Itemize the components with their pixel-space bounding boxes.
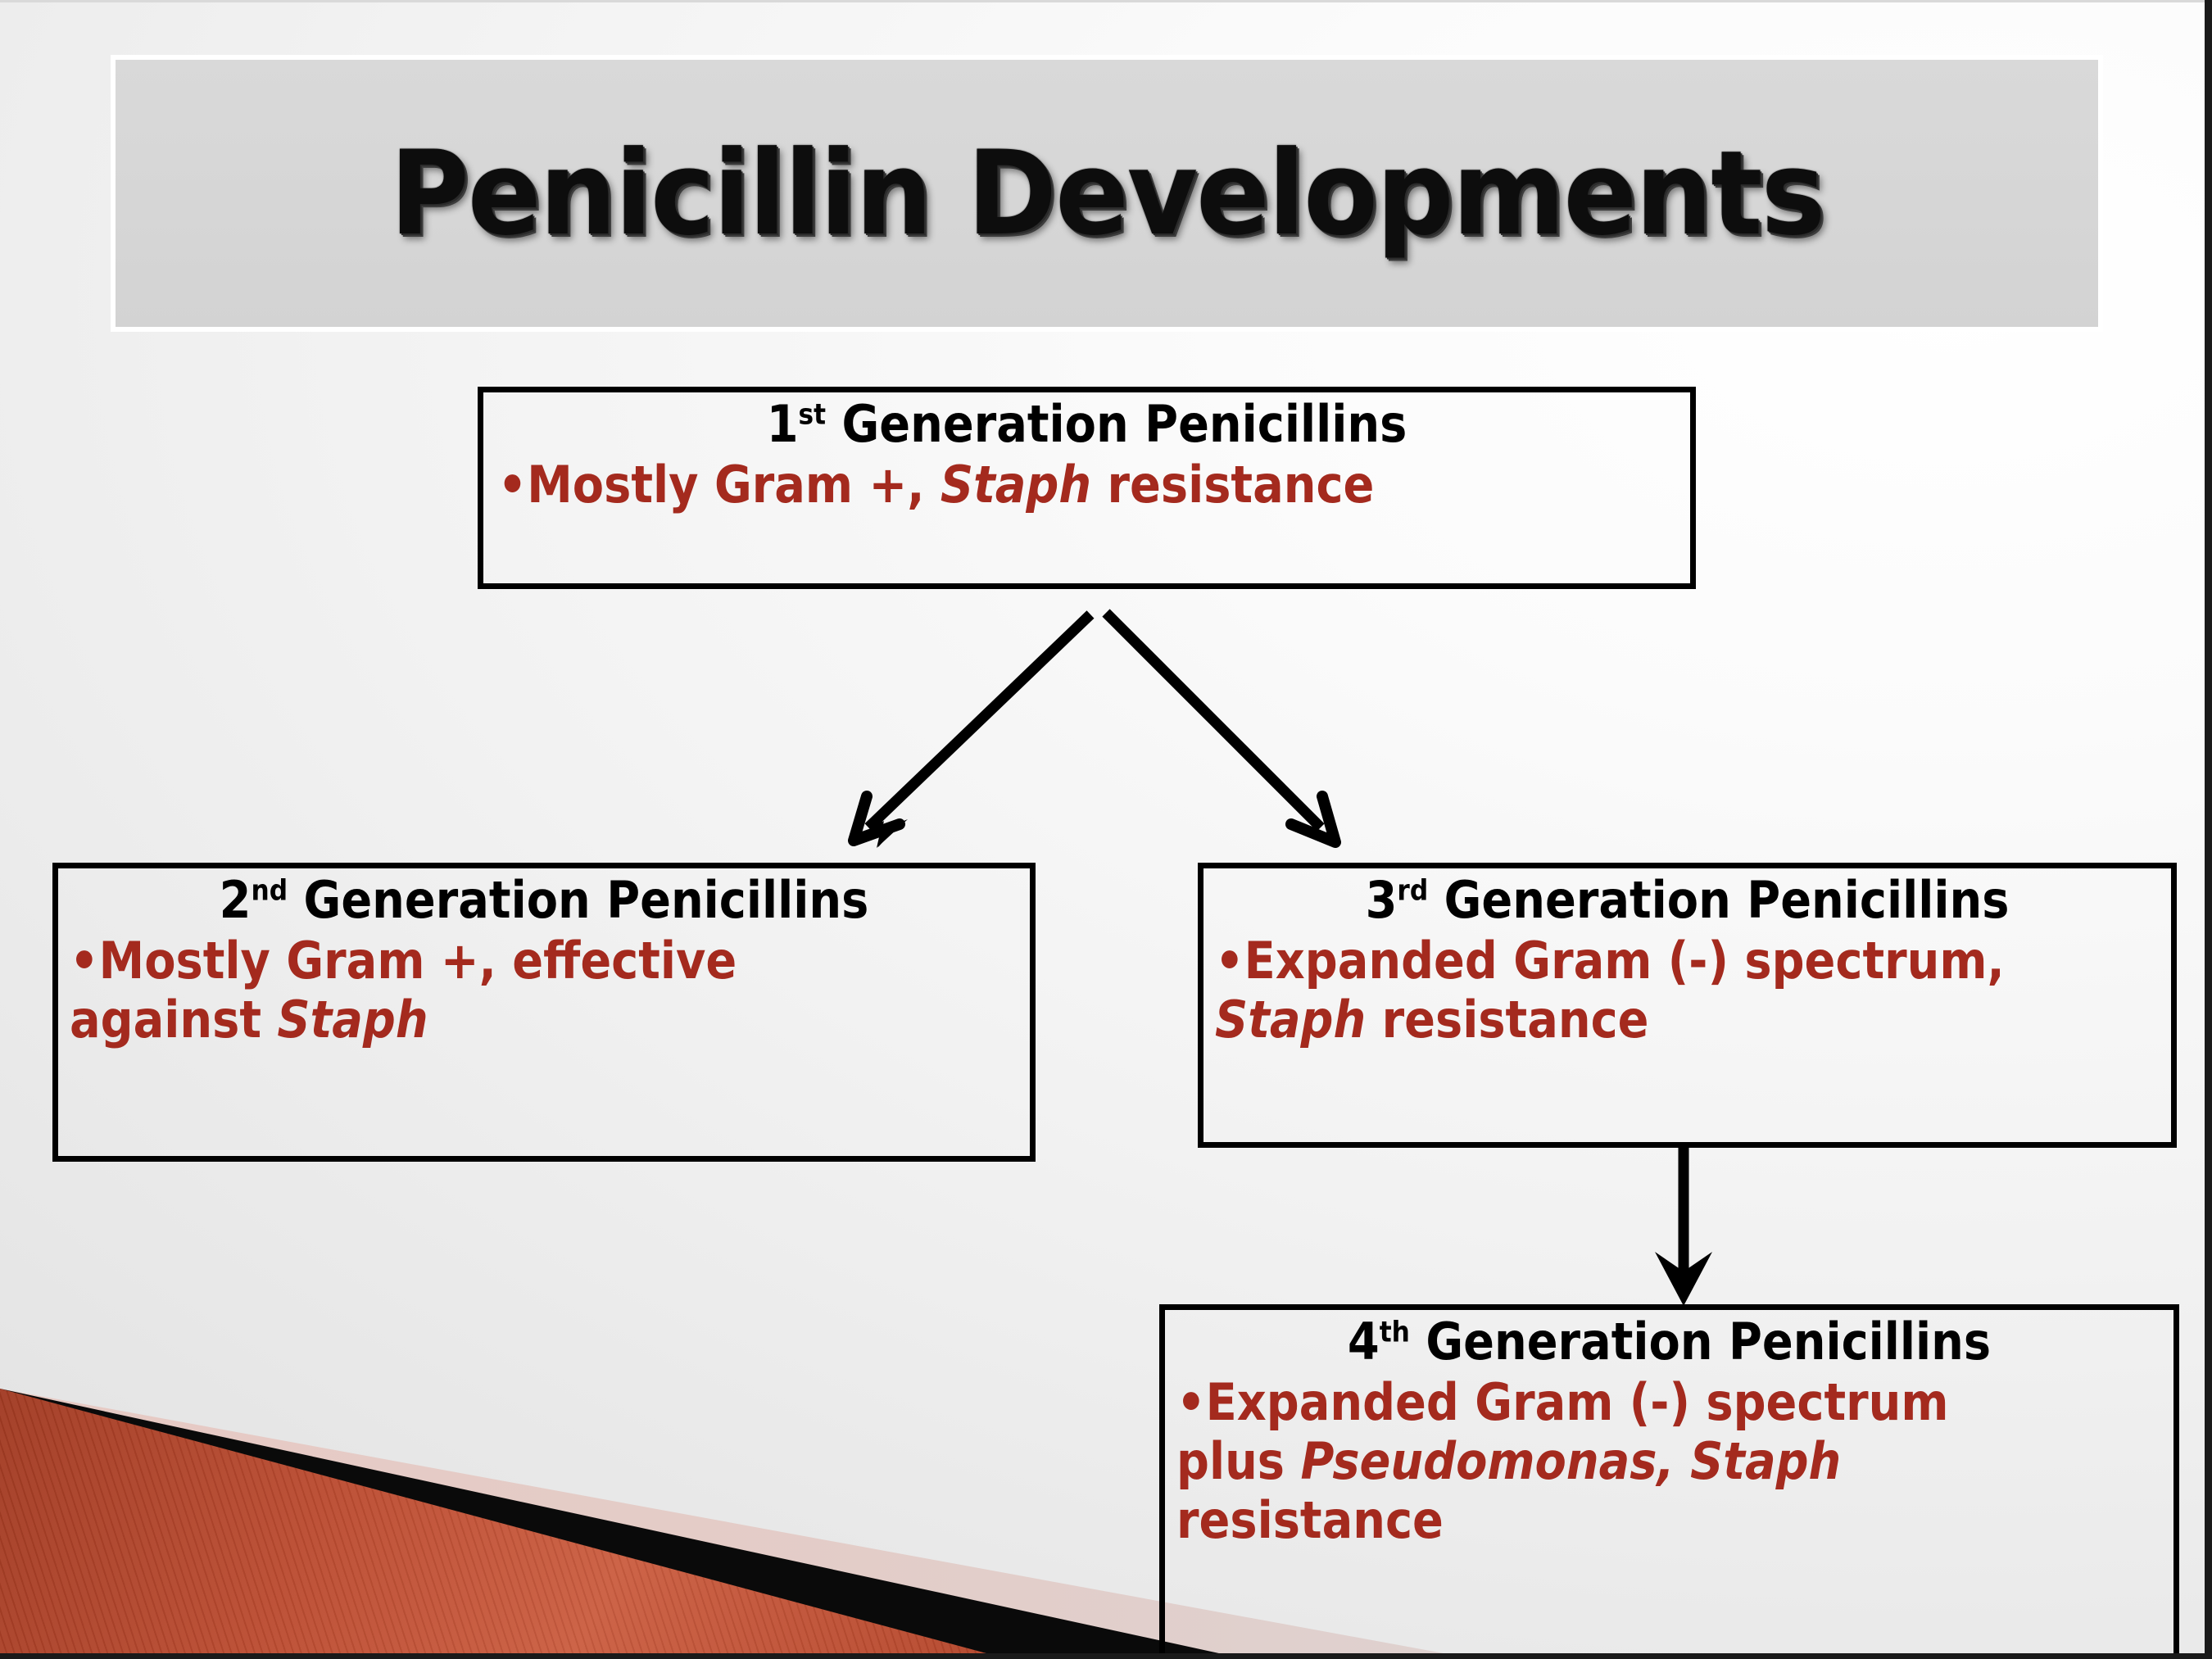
generation-4-heading: 4th Generation Penicillins [1226, 1315, 2113, 1370]
bullet-part-2: resistance [1176, 1490, 1444, 1550]
arrow-gen3-to-gen4 [1655, 1145, 1712, 1306]
generation-1-heading-rest: Generation Penicillins [826, 394, 1407, 454]
generation-1-heading: 1st Generation Penicillins [554, 397, 1620, 452]
generation-3-heading: 3rd Generation Penicillins [1262, 873, 2113, 928]
bullet-marker: • [1215, 931, 1244, 990]
generation-2-heading: 2nd Generation Penicillins [117, 873, 971, 928]
decor-orange-wedge [0, 1389, 1008, 1659]
bullet-part-1: Staph [1215, 990, 1366, 1049]
generation-1-ordinal: 1 [767, 394, 799, 454]
generation-3-heading-rest: Generation Penicillins [1428, 870, 2009, 930]
title-plaque: Penicillin Developments [111, 55, 2103, 332]
generation-4-bullet: •Expanded Gram (-) spectrum plus Pseudom… [1176, 1373, 2064, 1550]
bullet-marker: • [70, 931, 99, 990]
arrow-gen1-to-gen3 [1106, 613, 1335, 842]
bullet-marker: • [1176, 1372, 1206, 1432]
bullet-part-0: Expanded Gram (-) spectrum, [1244, 931, 2005, 990]
bullet-part-1: Staph [277, 990, 428, 1049]
generation-box-4[interactable]: 4th Generation Penicillins •Expanded Gra… [1159, 1304, 2179, 1659]
generation-box-1[interactable]: 1st Generation Penicillins •Mostly Gram … [478, 387, 1696, 589]
generation-2-heading-rest: Generation Penicillins [288, 870, 868, 930]
generation-box-3[interactable]: 3rd Generation Penicillins •Expanded Gra… [1198, 863, 2177, 1148]
bullet-part-0: Mostly Gram +, [527, 455, 941, 514]
slide-frame-bottom [0, 1653, 2212, 1659]
generation-1-ordinal-suffix: st [799, 398, 827, 431]
generation-4-heading-rest: Generation Penicillins [1410, 1312, 1991, 1371]
bullet-marker: • [498, 455, 528, 514]
generation-2-bullet: •Mostly Gram +, effective against Staph [70, 931, 923, 1049]
bullet-part-2: resistance [1366, 990, 1648, 1049]
generation-3-ordinal-suffix: rd [1397, 874, 1428, 907]
generation-4-ordinal: 4 [1348, 1312, 1380, 1371]
generation-4-ordinal-suffix: th [1380, 1316, 1410, 1349]
slide-canvas: Penicillin Developments 1st Generation P… [0, 0, 2212, 1659]
generation-2-ordinal-suffix: nd [251, 874, 288, 907]
generation-2-ordinal: 2 [220, 870, 252, 930]
bullet-part-1: Staph [941, 455, 1091, 514]
bullet-part-1: Pseudomonas, Staph [1300, 1431, 1841, 1491]
generation-box-2[interactable]: 2nd Generation Penicillins •Mostly Gram … [52, 863, 1036, 1162]
slide-frame-right [2205, 0, 2212, 1659]
generation-3-ordinal: 3 [1366, 870, 1398, 930]
bullet-part-2: resistance [1091, 455, 1374, 514]
arrow-gen1-to-gen2 [852, 614, 1090, 848]
generation-3-bullet: •Expanded Gram (-) spectrum, Staph resis… [1215, 931, 2065, 1049]
generation-1-bullet: •Mostly Gram +, Staph resistance [495, 456, 1561, 514]
page-title: Penicillin Developments [390, 126, 1824, 261]
slide-frame-top [0, 0, 2212, 2]
